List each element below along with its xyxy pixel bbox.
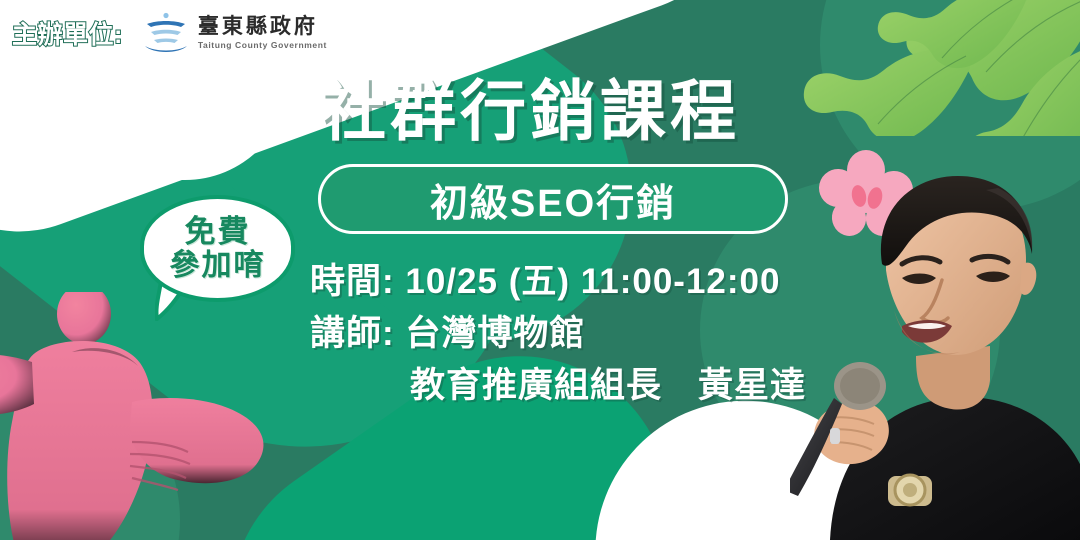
event-details: 時間: 10/25 (五) 11:00-12:00 講師: 台灣博物館 教育推廣… [310, 256, 880, 411]
taitung-wave-emblem-icon [143, 12, 189, 54]
badge-line-2: 參加唷 [170, 250, 266, 282]
badge-line-1: 免費 [185, 215, 251, 248]
government-logo-names: 臺東縣政府 Taitung County Government [198, 16, 327, 50]
free-entry-badge: 免費 參加唷 [140, 195, 295, 302]
organiser-label: 主辦單位: [12, 15, 123, 51]
event-speaker-name-line: 教育推廣組組長 黃星達 [310, 360, 880, 412]
pink-person-illustration [0, 292, 302, 540]
organiser-row: 主辦單位: 臺東縣政府 Taitung County Government [12, 12, 327, 54]
event-poster: 免費 參加唷 [0, 0, 1080, 540]
government-logo: 臺東縣政府 Taitung County Government [143, 12, 327, 54]
poster-content: 社群行銷課程 初級SEO行銷 時間: 10/25 (五) 11:00-12:00… [300, 78, 880, 411]
event-time-line: 時間: 10/25 (五) 11:00-12:00 [310, 256, 880, 308]
government-name-en: Taitung County Government [198, 41, 327, 50]
course-level-label: 初級SEO行銷 [430, 172, 676, 227]
government-name-cn: 臺東縣政府 [198, 16, 327, 37]
page-title: 社群行銷課程 [320, 78, 880, 144]
course-level-pill: 初級SEO行銷 [318, 164, 788, 234]
event-speaker-org-line: 講師: 台灣博物館 [310, 308, 880, 360]
